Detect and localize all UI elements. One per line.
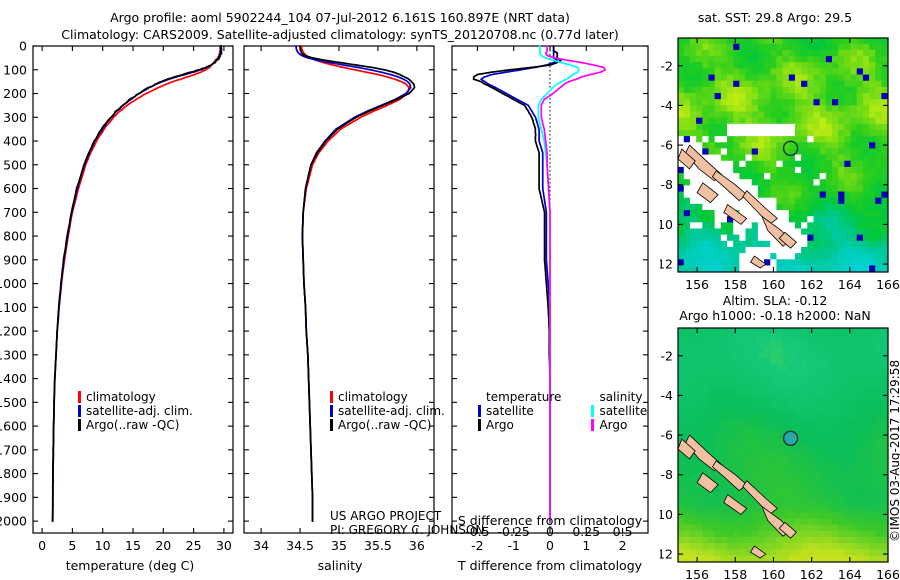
map-pixel xyxy=(758,420,765,427)
map-pixel xyxy=(708,105,715,112)
map-pixel xyxy=(727,148,734,155)
map-pixel xyxy=(851,420,858,427)
map-pixel xyxy=(715,395,722,402)
map-pixel xyxy=(826,50,833,57)
map-pixel xyxy=(715,531,722,538)
map-pixel xyxy=(832,482,839,489)
map-pixel xyxy=(875,130,882,137)
map-pixel xyxy=(857,148,864,155)
legend-swatch-argo xyxy=(330,419,333,431)
map-pixel xyxy=(875,75,882,82)
map-pixel xyxy=(869,38,876,45)
map-pixel xyxy=(764,328,771,335)
map-pixel xyxy=(783,130,790,137)
map-pixel xyxy=(851,383,858,390)
axis-tick-label: 156 xyxy=(685,277,709,290)
map-pixel xyxy=(789,334,796,341)
map-pixel xyxy=(820,512,827,519)
axis-tick-label: 160 xyxy=(762,567,786,580)
map-pixel xyxy=(739,383,746,390)
map-pixel xyxy=(733,173,740,180)
map-pixel xyxy=(708,371,715,378)
map-pixel xyxy=(820,445,827,452)
map-pixel xyxy=(690,241,697,248)
map-pixel xyxy=(851,93,858,100)
map-pixel xyxy=(715,161,722,168)
map-pixel xyxy=(727,38,734,45)
map-pixel xyxy=(826,93,833,100)
map-pixel xyxy=(838,50,845,57)
map-pixel xyxy=(857,328,864,335)
map-pixel xyxy=(857,377,864,384)
map-pixel xyxy=(746,383,753,390)
map-pixel xyxy=(746,210,753,217)
map-pixel xyxy=(727,537,734,544)
map-pixel xyxy=(733,161,740,168)
map-pixel xyxy=(832,111,839,118)
map-pixel xyxy=(678,241,685,248)
map-pixel xyxy=(783,414,790,421)
map-pixel xyxy=(838,365,845,372)
map-pixel xyxy=(851,555,858,562)
map-pixel xyxy=(702,334,709,341)
map-pixel xyxy=(739,518,746,525)
axis-tick-label: 200 xyxy=(3,86,27,101)
map-pixel xyxy=(746,555,753,562)
map-pixel xyxy=(708,494,715,501)
map-pixel xyxy=(770,81,777,88)
map-pixel xyxy=(844,543,851,550)
map-pixel xyxy=(826,124,833,131)
map-pixel xyxy=(752,155,759,162)
map-pixel xyxy=(684,371,691,378)
map-pixel xyxy=(838,155,845,162)
map-pixel xyxy=(813,365,820,372)
map-pixel xyxy=(875,525,882,532)
map-pixel xyxy=(857,506,864,513)
map-pixel xyxy=(702,228,709,235)
map-pixel xyxy=(678,457,685,464)
map-pixel xyxy=(770,346,777,353)
map-pixel xyxy=(746,216,753,223)
map-pixel xyxy=(881,265,888,272)
axis-tick-label: 35.5 xyxy=(364,538,392,553)
map-pixel xyxy=(832,56,839,63)
map-pixel xyxy=(857,247,864,254)
map-pixel xyxy=(702,118,709,125)
map-pixel xyxy=(838,38,845,45)
map-pixel xyxy=(869,210,876,217)
map-pixel xyxy=(832,148,839,155)
map-pixel xyxy=(678,75,685,82)
map-pixel xyxy=(813,426,820,433)
map-pixel xyxy=(715,222,722,229)
map-pixel xyxy=(746,457,753,464)
map-pixel xyxy=(690,130,697,137)
map-pixel xyxy=(801,155,808,162)
map-pixel xyxy=(764,457,771,464)
map-pixel xyxy=(721,414,728,421)
map-pixel xyxy=(844,62,851,69)
map-pixel xyxy=(844,130,851,137)
axis-tick-label: -8 xyxy=(661,177,674,192)
map-pixel xyxy=(727,105,734,112)
map-pixel xyxy=(826,185,833,192)
map-pixel xyxy=(807,438,814,445)
map-pixel xyxy=(820,228,827,235)
map-pixel xyxy=(696,463,703,470)
map-pixel xyxy=(820,222,827,229)
map-pixel xyxy=(764,247,771,254)
map-pixel xyxy=(826,198,833,205)
map-pixel xyxy=(807,531,814,538)
map-pixel xyxy=(690,99,697,106)
map-pixel xyxy=(708,365,715,372)
map-pixel xyxy=(851,506,858,513)
legend-item: Argo xyxy=(591,418,647,432)
map-pixel xyxy=(758,50,765,57)
map-pixel xyxy=(875,118,882,125)
map-pixel xyxy=(721,198,728,205)
map-pixel xyxy=(844,414,851,421)
map-pixel xyxy=(832,549,839,556)
map-pixel xyxy=(733,414,740,421)
map-pixel xyxy=(857,340,864,347)
map-pixel xyxy=(838,414,845,421)
map-pixel xyxy=(795,68,802,75)
map-pixel xyxy=(770,401,777,408)
map-pixel xyxy=(715,414,722,421)
map-pixel xyxy=(789,210,796,217)
map-pixel xyxy=(708,414,715,421)
map-pixel xyxy=(869,525,876,532)
map-pixel xyxy=(739,334,746,341)
map-pixel xyxy=(826,216,833,223)
map-pixel xyxy=(838,518,845,525)
map-pixel xyxy=(863,50,870,57)
map-pixel xyxy=(752,222,759,229)
map-pixel xyxy=(863,494,870,501)
map-pixel xyxy=(715,389,722,396)
map-pixel xyxy=(813,111,820,118)
map-pixel xyxy=(733,334,740,341)
map-pixel xyxy=(832,235,839,242)
map-pixel xyxy=(702,377,709,384)
map-pixel xyxy=(764,358,771,365)
map-pixel xyxy=(721,118,728,125)
map-pixel xyxy=(746,44,753,51)
map-pixel xyxy=(758,105,765,112)
map-pixel xyxy=(820,75,827,82)
map-pixel xyxy=(795,457,802,464)
map-pixel xyxy=(684,518,691,525)
map-pixel xyxy=(739,537,746,544)
map-pixel xyxy=(684,334,691,341)
map-pixel xyxy=(813,198,820,205)
map-pixel xyxy=(820,259,827,266)
map-pixel xyxy=(851,494,858,501)
map-pixel xyxy=(869,173,876,180)
map-pixel xyxy=(702,99,709,106)
map-pixel xyxy=(783,198,790,205)
map-pixel xyxy=(684,192,691,199)
map-pixel xyxy=(801,395,808,402)
map-pixel xyxy=(764,130,771,137)
map-pixel xyxy=(869,494,876,501)
map-pixel xyxy=(764,136,771,143)
map-pixel xyxy=(783,44,790,51)
map-pixel xyxy=(764,451,771,458)
map-pixel xyxy=(783,173,790,180)
map-pixel xyxy=(863,241,870,248)
map-pixel xyxy=(739,371,746,378)
map-pixel xyxy=(832,389,839,396)
map-pixel xyxy=(783,93,790,100)
map-pixel xyxy=(863,228,870,235)
map-pixel xyxy=(844,118,851,125)
map-pixel xyxy=(807,525,814,532)
map-pixel xyxy=(702,210,709,217)
map-pixel xyxy=(684,531,691,538)
map-pixel xyxy=(881,111,888,118)
map-pixel xyxy=(851,352,858,359)
map-pixel xyxy=(752,506,759,513)
map-pixel xyxy=(684,500,691,507)
map-pixel xyxy=(826,210,833,217)
map-pixel xyxy=(758,185,765,192)
map-pixel xyxy=(733,259,740,266)
map-pixel xyxy=(789,198,796,205)
map-pixel xyxy=(770,259,777,266)
map-pixel xyxy=(696,241,703,248)
map-pixel xyxy=(857,334,864,341)
map-pixel xyxy=(690,475,697,482)
map-pixel xyxy=(733,340,740,347)
map-pixel xyxy=(727,432,734,439)
map-pixel xyxy=(869,142,876,149)
map-pixel xyxy=(844,512,851,519)
map-pixel xyxy=(795,50,802,57)
map-pixel xyxy=(869,549,876,556)
map-pixel xyxy=(801,142,808,149)
axis-tick-label: -2 xyxy=(661,58,673,73)
map-pixel xyxy=(733,401,740,408)
map-pixel xyxy=(851,408,858,415)
map-pixel xyxy=(702,222,709,229)
map-pixel xyxy=(708,75,715,82)
map-pixel xyxy=(733,408,740,415)
map-pixel xyxy=(678,44,685,51)
map-pixel xyxy=(820,432,827,439)
map-pixel xyxy=(801,50,808,57)
map-pixel xyxy=(770,438,777,445)
map-pixel xyxy=(696,500,703,507)
map-pixel xyxy=(881,192,888,199)
map-pixel xyxy=(832,253,839,260)
map-pixel xyxy=(752,44,759,51)
map-pixel xyxy=(801,383,808,390)
map-pixel xyxy=(807,506,814,513)
map-pixel xyxy=(690,75,697,82)
legend-label: Argo xyxy=(599,418,627,432)
map-pixel xyxy=(807,105,814,112)
map-pixel xyxy=(758,475,765,482)
map-pixel xyxy=(801,99,808,106)
map-pixel xyxy=(727,365,734,372)
map-pixel xyxy=(715,408,722,415)
map-pixel xyxy=(739,358,746,365)
map-pixel xyxy=(684,488,691,495)
map-pixel xyxy=(857,414,864,421)
map-pixel xyxy=(746,253,753,260)
map-pixel xyxy=(807,130,814,137)
map-pixel xyxy=(684,235,691,242)
map-pixel xyxy=(733,87,740,94)
map-pixel xyxy=(838,555,845,562)
axis-tick-label: 158 xyxy=(723,567,747,580)
map-pixel xyxy=(813,488,820,495)
map-pixel xyxy=(727,426,734,433)
map-pixel xyxy=(708,438,715,445)
map-pixel xyxy=(752,228,759,235)
map-pixel xyxy=(746,377,753,384)
map-pixel xyxy=(851,389,858,396)
map-pixel xyxy=(851,432,858,439)
map-pixel xyxy=(863,161,870,168)
map-pixel xyxy=(690,259,697,266)
map-pixel xyxy=(807,216,814,223)
map-pixel xyxy=(875,44,882,51)
map-pixel xyxy=(752,518,759,525)
map-pixel xyxy=(739,352,746,359)
map-pixel xyxy=(727,334,734,341)
map-pixel xyxy=(820,389,827,396)
map-pixel xyxy=(863,420,870,427)
map-pixel xyxy=(702,93,709,100)
map-pixel xyxy=(826,328,833,335)
map-pixel xyxy=(746,531,753,538)
map-pixel xyxy=(690,247,697,254)
map-pixel xyxy=(857,235,864,242)
map-pixel xyxy=(764,75,771,82)
map-pixel xyxy=(869,50,876,57)
map-pixel xyxy=(881,81,888,88)
map-pixel xyxy=(875,161,882,168)
map-pixel xyxy=(764,340,771,347)
map-pixel xyxy=(801,130,808,137)
map-pixel xyxy=(684,241,691,248)
map-pixel xyxy=(776,259,783,266)
map-pixel xyxy=(690,216,697,223)
map-pixel xyxy=(844,235,851,242)
map-pixel xyxy=(764,463,771,470)
map-pixel xyxy=(783,118,790,125)
map-pixel xyxy=(739,75,746,82)
map-pixel xyxy=(776,204,783,211)
map-pixel xyxy=(801,463,808,470)
map-pixel xyxy=(739,99,746,106)
map-pixel xyxy=(758,395,765,402)
map-pixel xyxy=(807,482,814,489)
map-pixel xyxy=(789,352,796,359)
map-pixel xyxy=(875,401,882,408)
map-pixel xyxy=(678,482,685,489)
map-pixel xyxy=(820,235,827,242)
map-pixel xyxy=(721,518,728,525)
map-pixel xyxy=(690,56,697,63)
map-pixel xyxy=(746,352,753,359)
map-pixel xyxy=(783,253,790,260)
map-pixel xyxy=(851,87,858,94)
map-pixel xyxy=(746,463,753,470)
map-pixel xyxy=(770,50,777,57)
map-pixel xyxy=(826,155,833,162)
axis-tick-label: 1400 xyxy=(0,371,27,386)
map-pixel xyxy=(727,457,734,464)
map-pixel xyxy=(752,216,759,223)
map-pixel xyxy=(851,99,858,106)
map-pixel xyxy=(820,475,827,482)
map-pixel xyxy=(875,346,882,353)
map-pixel xyxy=(702,383,709,390)
map-pixel xyxy=(696,44,703,51)
map-pixel xyxy=(795,210,802,217)
map-pixel xyxy=(801,438,808,445)
map-pixel xyxy=(857,142,864,149)
map-pixel xyxy=(881,328,888,335)
map-pixel xyxy=(881,50,888,57)
map-pixel xyxy=(807,401,814,408)
map-pixel xyxy=(702,265,709,272)
map-pixel xyxy=(869,216,876,223)
map-pixel xyxy=(696,531,703,538)
map-pixel xyxy=(684,265,691,272)
legend-label: Argo xyxy=(486,418,514,432)
map-pixel xyxy=(801,228,808,235)
map-pixel xyxy=(727,81,734,88)
map-pixel xyxy=(838,371,845,378)
map-pixel xyxy=(715,537,722,544)
map-pixel xyxy=(739,118,746,125)
map-pixel xyxy=(844,198,851,205)
map-pixel xyxy=(752,475,759,482)
map-pixel xyxy=(702,365,709,372)
map-pixel xyxy=(764,173,771,180)
map-pixel xyxy=(684,222,691,229)
map-pixel xyxy=(857,81,864,88)
map-pixel xyxy=(826,426,833,433)
map-pixel xyxy=(770,469,777,476)
map-pixel xyxy=(727,87,734,94)
map-pixel xyxy=(721,457,728,464)
map-pixel xyxy=(795,130,802,137)
map-pixel xyxy=(832,167,839,174)
map-pixel xyxy=(832,512,839,519)
map-pixel xyxy=(801,518,808,525)
map-pixel xyxy=(678,81,685,88)
map-pixel xyxy=(684,118,691,125)
map-pixel xyxy=(801,44,808,51)
axis-tick-label: 35 xyxy=(331,538,347,553)
map-pixel xyxy=(838,488,845,495)
map-pixel xyxy=(739,395,746,402)
map-pixel xyxy=(881,118,888,125)
map-pixel xyxy=(832,365,839,372)
map-pixel xyxy=(776,445,783,452)
map-pixel xyxy=(826,259,833,266)
map-pixel xyxy=(813,216,820,223)
map-pixel xyxy=(739,81,746,88)
